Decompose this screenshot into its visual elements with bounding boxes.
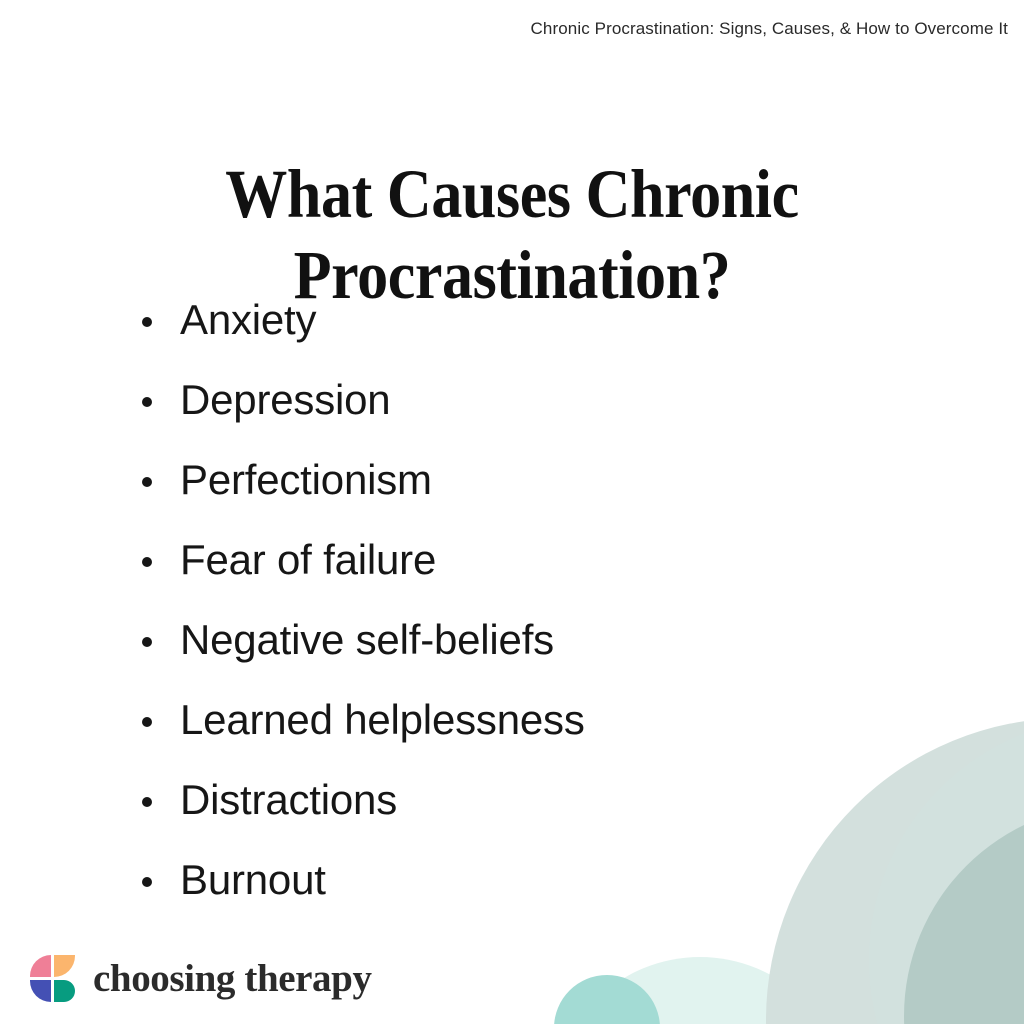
list-item-label: Fear of failure: [180, 536, 436, 583]
pale-mint-circle: [552, 957, 848, 1024]
bullet-icon: [142, 477, 152, 487]
bullet-icon: [142, 557, 152, 567]
list-item: Fear of failure: [136, 536, 776, 584]
light-teal-circle: [766, 718, 1024, 1024]
bullet-icon: [142, 397, 152, 407]
logo-quadrant-top-left-icon: [30, 955, 51, 977]
list-item: Depression: [136, 376, 776, 424]
list-item: Distractions: [136, 776, 776, 824]
bullet-icon: [142, 877, 152, 887]
deep-sage-circle: [904, 804, 1024, 1024]
list-item: Burnout: [136, 856, 776, 904]
page-title: What Causes Chronic Procrastination?: [138, 154, 887, 316]
logo-quadrant-top-right-icon: [54, 955, 75, 977]
logo-quadrant-bottom-right-icon: [54, 980, 75, 1002]
brand-wordmark: choosing therapy: [93, 957, 372, 1001]
brand-logo[interactable]: choosing therapy: [30, 955, 372, 1003]
list-item-label: Anxiety: [180, 296, 316, 343]
infographic-slide: Chronic Procrastination: Signs, Causes, …: [0, 0, 1024, 1024]
bullet-icon: [142, 637, 152, 647]
list-item: Perfectionism: [136, 456, 776, 504]
list-item-label: Learned helplessness: [180, 696, 585, 743]
list-item-label: Burnout: [180, 856, 326, 903]
article-header-title: Chronic Procrastination: Signs, Causes, …: [531, 18, 1008, 40]
bullet-icon: [142, 797, 152, 807]
causes-list: Anxiety Depression Perfectionism Fear of…: [136, 296, 776, 936]
list-item: Anxiety: [136, 296, 776, 344]
aqua-accent-circle: [554, 975, 660, 1024]
list-item-label: Depression: [180, 376, 390, 423]
choosing-therapy-logo-icon: [30, 955, 76, 1003]
list-item-label: Perfectionism: [180, 456, 432, 503]
list-item: Learned helplessness: [136, 696, 776, 744]
bullet-icon: [142, 317, 152, 327]
soft-sage-circle: [869, 717, 1024, 1024]
list-item: Negative self-beliefs: [136, 616, 776, 664]
logo-quadrant-bottom-left-icon: [30, 980, 51, 1002]
bullet-icon: [142, 717, 152, 727]
list-item-label: Negative self-beliefs: [180, 616, 554, 663]
list-item-label: Distractions: [180, 776, 397, 823]
